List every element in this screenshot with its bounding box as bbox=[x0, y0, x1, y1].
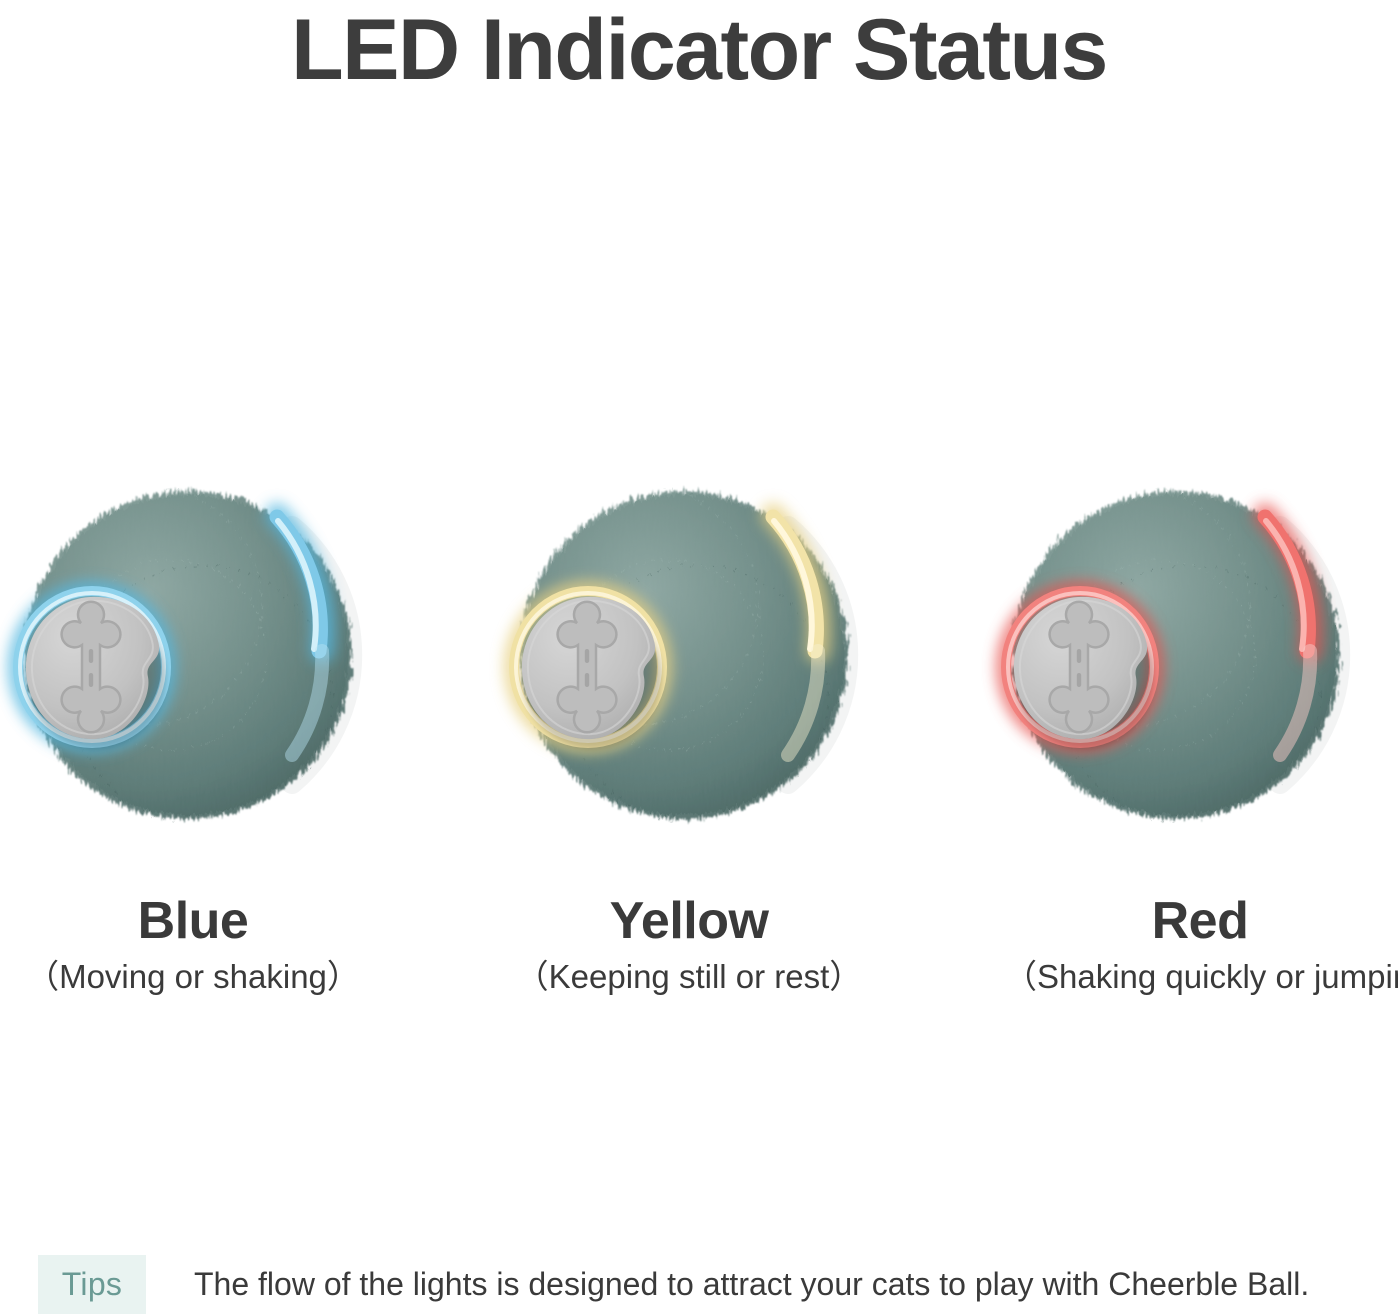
caption-yellow: Yellow （Keeping still or rest） bbox=[496, 890, 882, 998]
caption-blue: Blue （Moving or shaking） bbox=[0, 890, 386, 998]
indicator-description-yellow: （Keeping still or rest） bbox=[496, 956, 882, 998]
caption-red: Red （Shaking quickly or jumping） bbox=[1004, 890, 1396, 998]
led-indicator-ball-row bbox=[0, 455, 1398, 855]
indicator-name-yellow: Yellow bbox=[496, 890, 882, 952]
led-indicator-caption-row: Blue （Moving or shaking） Yellow （Keeping… bbox=[0, 890, 1398, 1020]
tips-badge: Tips bbox=[38, 1255, 146, 1314]
tips-text: The flow of the lights is designed to at… bbox=[194, 1255, 1309, 1314]
indicator-description-red: （Shaking quickly or jumping） bbox=[1004, 956, 1396, 998]
indicator-name-red: Red bbox=[1004, 890, 1396, 952]
indicator-description-blue: （Moving or shaking） bbox=[0, 956, 386, 998]
page-title: LED Indicator Status bbox=[0, 2, 1398, 98]
ball-image-blue bbox=[0, 455, 392, 855]
ball-image-red bbox=[980, 455, 1380, 855]
tips-bar: Tips The flow of the lights is designed … bbox=[0, 1255, 1398, 1314]
ball-image-yellow bbox=[488, 455, 888, 855]
indicator-name-blue: Blue bbox=[0, 890, 386, 952]
